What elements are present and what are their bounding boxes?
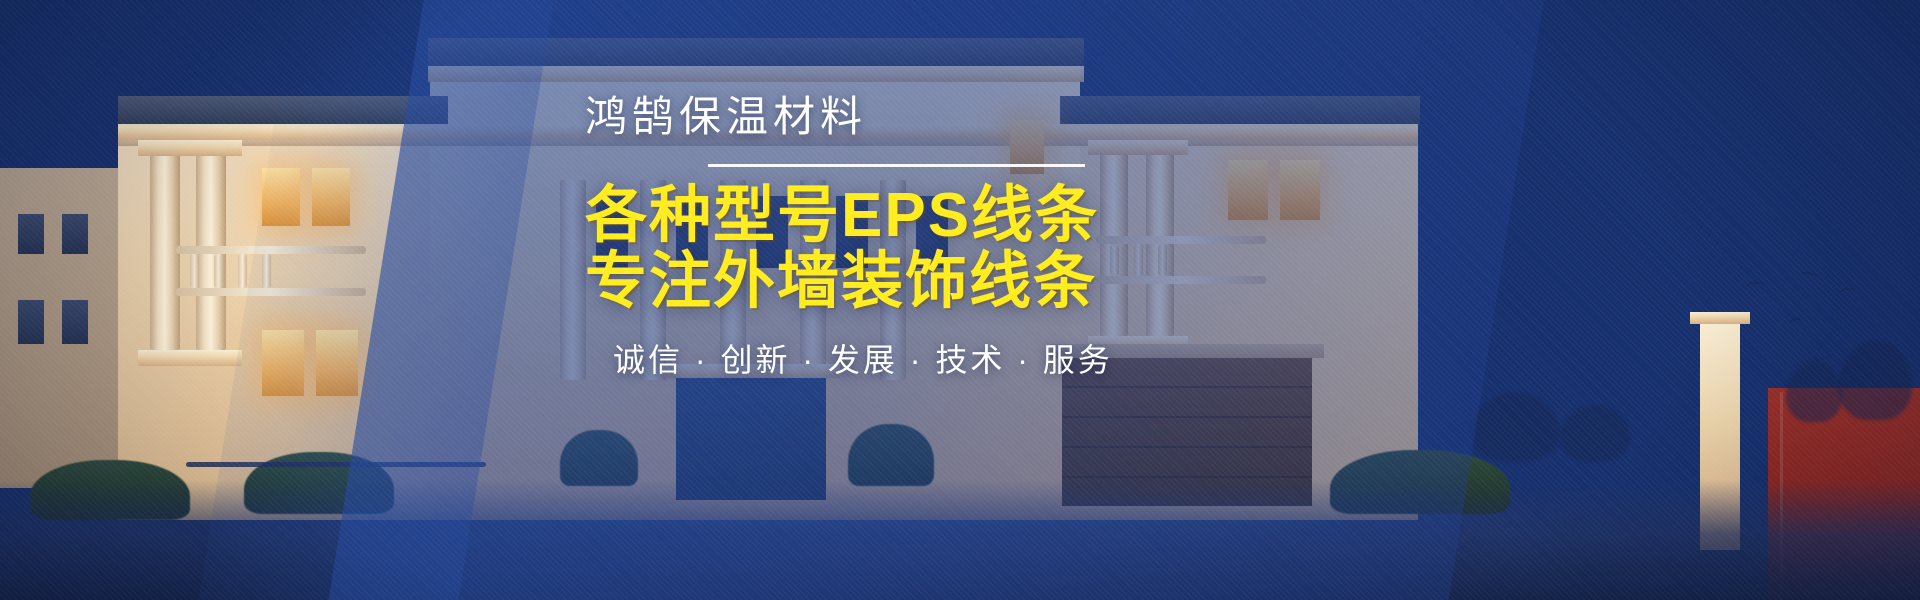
garage-panel-line bbox=[1062, 446, 1312, 448]
baluster bbox=[214, 254, 223, 288]
banner-copy: 鸿鹄保温材料 各种型号EPS线条 专注外墙装饰线条 诚信 · 创新 · 发展 ·… bbox=[585, 96, 1585, 376]
title-divider bbox=[708, 164, 1085, 167]
lit-window bbox=[262, 330, 304, 396]
cornice-band bbox=[428, 66, 1084, 82]
tree-silhouette bbox=[1470, 392, 1560, 462]
lit-window bbox=[312, 168, 350, 226]
foreground-railing bbox=[186, 462, 486, 467]
garage-panel-line bbox=[1062, 416, 1312, 418]
baluster bbox=[238, 254, 247, 288]
hedge bbox=[560, 430, 638, 486]
baluster bbox=[190, 254, 199, 288]
foreground-ground bbox=[0, 480, 1920, 600]
headline-line-1: 各种型号EPS线条 bbox=[585, 183, 1585, 249]
neighbour-window bbox=[18, 214, 44, 254]
balustrade-rail bbox=[176, 246, 366, 254]
tree-silhouette bbox=[1786, 360, 1842, 422]
headline-line-2: 专注外墙装饰线条 bbox=[585, 249, 1585, 315]
tree-silhouette bbox=[1560, 404, 1630, 462]
garage-panel-line bbox=[1062, 476, 1312, 478]
right-pier-cap bbox=[1690, 312, 1750, 324]
neighbour-window bbox=[62, 214, 88, 254]
column bbox=[560, 180, 586, 380]
neighbour-window bbox=[62, 300, 88, 344]
lit-window bbox=[262, 168, 300, 226]
hero-banner: 鸿鹄保温材料 各种型号EPS线条 专注外墙装饰线条 诚信 · 创新 · 发展 ·… bbox=[0, 0, 1920, 600]
garage-panel-line bbox=[1062, 386, 1312, 388]
baluster bbox=[262, 254, 271, 288]
tagline: 诚信 · 创新 · 发展 · 技术 · 服务 bbox=[613, 344, 1585, 376]
villa-roof-center bbox=[428, 38, 1084, 66]
villa-roof-left bbox=[118, 96, 448, 126]
balustrade-rail bbox=[176, 288, 366, 296]
brand-name: 鸿鹄保温材料 bbox=[585, 96, 1585, 138]
headline: 各种型号EPS线条 专注外墙装饰线条 bbox=[585, 183, 1585, 314]
hedge bbox=[848, 424, 934, 486]
lit-window bbox=[316, 330, 358, 396]
neighbour-window bbox=[18, 300, 44, 344]
column-base bbox=[138, 350, 242, 366]
tree-silhouette bbox=[1838, 340, 1912, 420]
column-capital bbox=[138, 140, 242, 156]
